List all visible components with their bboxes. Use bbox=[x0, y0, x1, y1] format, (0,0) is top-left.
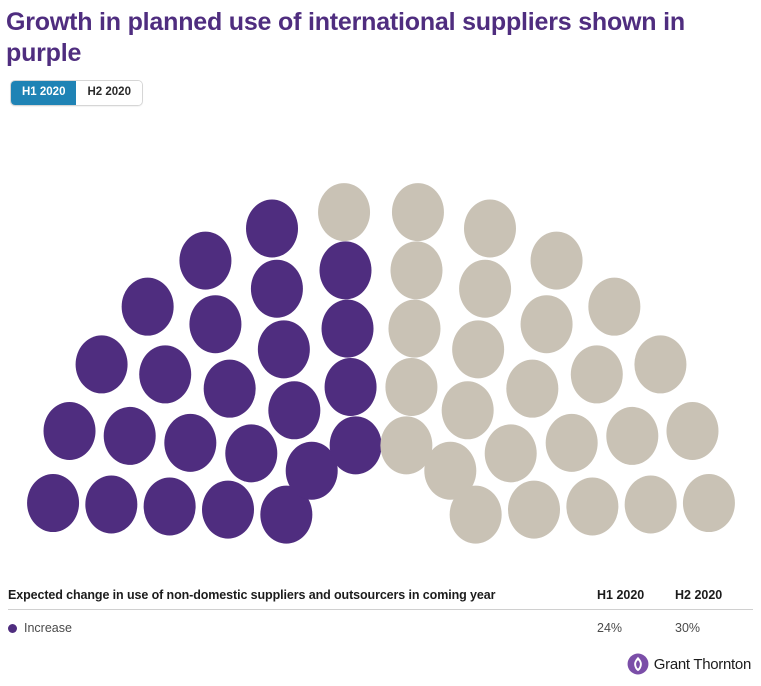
chart-dot-increase bbox=[268, 381, 320, 439]
legend-label: Increase bbox=[24, 621, 72, 635]
chart-dot-increase bbox=[76, 335, 128, 393]
value-h2-2020: 30% bbox=[675, 621, 753, 635]
chart-dot-increase bbox=[164, 413, 216, 471]
legend-entry-increase: Increase bbox=[8, 621, 597, 635]
chart-dot-remainder bbox=[452, 320, 504, 378]
chart-dot-increase bbox=[27, 474, 79, 532]
chart-dot-remainder bbox=[606, 407, 658, 465]
chart-dot-remainder bbox=[442, 381, 494, 439]
chart-dot-increase bbox=[122, 277, 174, 335]
chart-dot-increase bbox=[320, 241, 372, 299]
chart-dot-remainder bbox=[459, 259, 511, 317]
chart-dot-remainder bbox=[388, 299, 440, 357]
chart-dot-remainder bbox=[521, 295, 573, 353]
chart-dot-remainder bbox=[506, 359, 558, 417]
chart-dot-increase bbox=[286, 441, 338, 499]
period-tab-group[interactable]: H1 2020 H2 2020 bbox=[10, 80, 143, 106]
chart-dot-increase bbox=[104, 407, 156, 465]
column-header-h1-2020: H1 2020 bbox=[597, 588, 675, 602]
arc-chart-svg bbox=[0, 110, 761, 560]
chart-dot-remainder bbox=[392, 183, 444, 241]
chart-dot-remainder bbox=[508, 480, 560, 538]
parliament-arc-chart bbox=[0, 110, 761, 560]
chart-dot-increase bbox=[225, 424, 277, 482]
chart-dot-increase bbox=[330, 416, 382, 474]
legend-dot-icon bbox=[8, 624, 17, 633]
chart-dot-increase bbox=[85, 475, 137, 533]
chart-dot-remainder bbox=[546, 413, 598, 471]
grant-thornton-diamond-icon bbox=[627, 653, 649, 675]
chart-dot-remainder bbox=[666, 402, 718, 460]
chart-dot-remainder bbox=[625, 475, 677, 533]
chart-dot-increase bbox=[202, 480, 254, 538]
chart-dot-increase bbox=[179, 231, 231, 289]
chart-dot-remainder bbox=[450, 485, 502, 543]
tab-h2-2020[interactable]: H2 2020 bbox=[76, 81, 141, 105]
chart-dot-remainder bbox=[391, 241, 443, 299]
chart-dot-increase bbox=[322, 299, 374, 357]
chart-dot-increase bbox=[251, 259, 303, 317]
table-row-header-label: Expected change in use of non-domestic s… bbox=[8, 588, 597, 602]
brand-name: Grant Thornton bbox=[654, 656, 751, 673]
chart-dot-remainder bbox=[485, 424, 537, 482]
chart-dot-remainder bbox=[588, 277, 640, 335]
chart-dot-remainder bbox=[380, 416, 432, 474]
chart-dot-remainder bbox=[634, 335, 686, 393]
page-title: Growth in planned use of international s… bbox=[0, 0, 761, 68]
chart-dot-remainder bbox=[531, 231, 583, 289]
chart-dot-remainder bbox=[385, 358, 437, 416]
column-header-h2-2020: H2 2020 bbox=[675, 588, 753, 602]
chart-dot-increase bbox=[246, 199, 298, 257]
chart-dot-increase bbox=[144, 477, 196, 535]
value-h1-2020: 24% bbox=[597, 621, 675, 635]
chart-dot-increase bbox=[204, 359, 256, 417]
chart-dot-increase bbox=[44, 402, 96, 460]
brand-logo: Grant Thornton bbox=[627, 653, 751, 675]
table-header-row: Expected change in use of non-domestic s… bbox=[8, 588, 753, 610]
chart-dot-remainder bbox=[318, 183, 370, 241]
chart-dot-increase bbox=[325, 358, 377, 416]
chart-dot-remainder bbox=[683, 474, 735, 532]
chart-dot-remainder bbox=[566, 477, 618, 535]
summary-table: Expected change in use of non-domestic s… bbox=[0, 588, 761, 635]
table-row: Increase 24% 30% bbox=[8, 610, 753, 635]
tab-h1-2020[interactable]: H1 2020 bbox=[11, 81, 76, 105]
chart-dot-remainder bbox=[571, 345, 623, 403]
chart-dot-increase bbox=[139, 345, 191, 403]
chart-dot-remainder bbox=[464, 199, 516, 257]
chart-dot-increase bbox=[258, 320, 310, 378]
chart-dot-increase bbox=[189, 295, 241, 353]
